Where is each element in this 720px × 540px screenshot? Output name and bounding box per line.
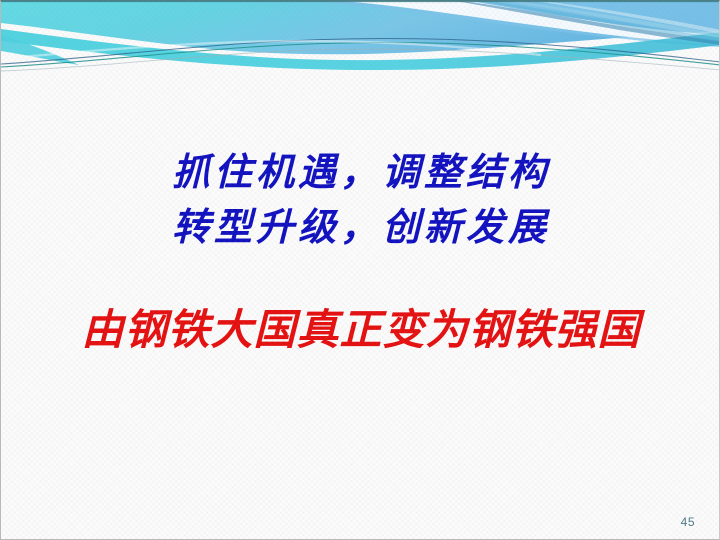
- header-wave-banner: [1, 1, 720, 97]
- headline-line-1: 抓住机遇，调整结构: [1, 153, 720, 191]
- presentation-slide: 抓住机遇，调整结构 转型升级，创新发展 由钢铁大国真正变为钢铁强国 45: [0, 0, 720, 540]
- slide-number: 45: [681, 515, 695, 529]
- headline-line-2: 转型升级，创新发展: [1, 208, 720, 246]
- wave-shapes-group: [1, 1, 720, 71]
- slogan-line: 由钢铁大国真正变为钢铁强国: [1, 309, 720, 351]
